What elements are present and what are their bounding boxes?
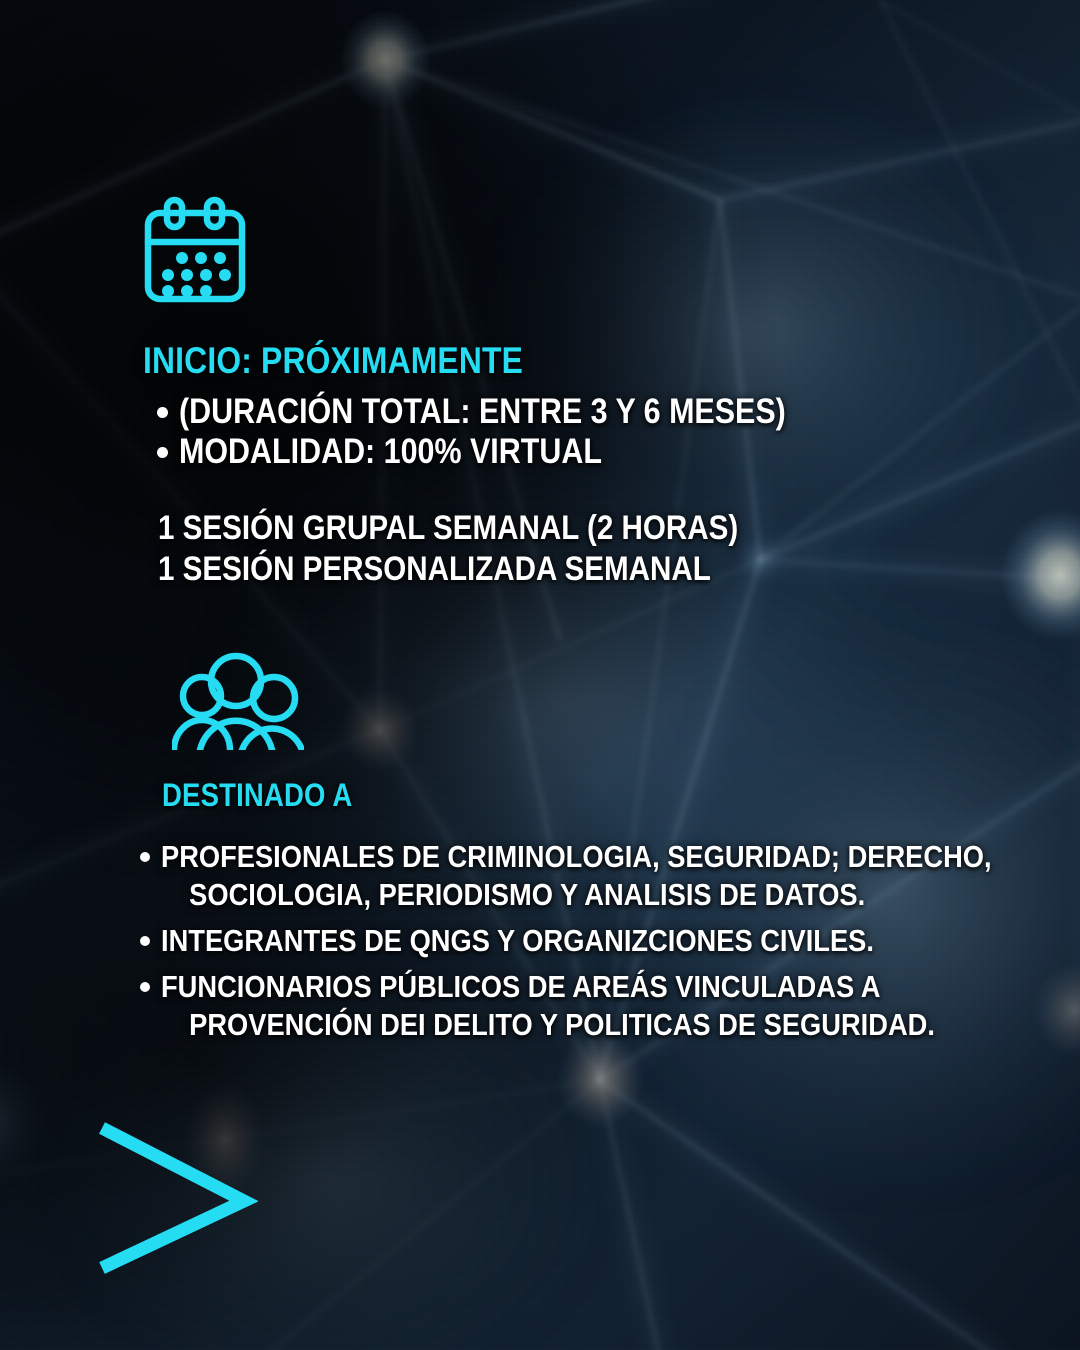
bullet-dot-icon (140, 852, 150, 862)
inicio-heading: INICIO: PRÓXIMAMENTE (143, 340, 523, 382)
list-item: (DURACIÓN TOTAL: ENTRE 3 Y 6 MESES) (157, 392, 877, 432)
list-item-label: MODALIDAD: 100% VIRTUAL (179, 432, 602, 472)
session-line: 1 SESIÓN PERSONALIZADA SEMANAL (158, 549, 738, 590)
destinado-bullet-list: PROFESIONALES DE CRIMINOLOGIA, SEGURIDAD… (140, 838, 1020, 1052)
bullet-dot-icon (140, 936, 150, 946)
inicio-bullet-list: (DURACIÓN TOTAL: ENTRE 3 Y 6 MESES) MODA… (157, 392, 877, 472)
list-item-label: PROFESIONALES DE CRIMINOLOGIA, SEGURIDAD… (161, 838, 992, 914)
bullet-dot-icon (157, 407, 168, 418)
bullet-dot-icon (140, 982, 150, 992)
destinado-heading: DESTINADO A (162, 777, 352, 814)
calendar-icon (143, 196, 247, 304)
list-item-line-1: PROFESIONALES DE CRIMINOLOGIA, SEGURIDAD… (161, 839, 992, 874)
bullet-dot-icon (157, 447, 168, 458)
list-item-label: (DURACIÓN TOTAL: ENTRE 3 Y 6 MESES) (179, 392, 786, 432)
list-item: INTEGRANTES DE QNGS Y ORGANIZCIONES CIVI… (140, 922, 1020, 960)
chevron-right-icon (88, 1118, 258, 1278)
people-group-icon (172, 652, 304, 750)
list-item-label: INTEGRANTES DE QNGS Y ORGANIZCIONES CIVI… (161, 922, 874, 960)
poster-canvas: INICIO: PRÓXIMAMENTE (DURACIÓN TOTAL: EN… (0, 0, 1080, 1350)
sessions-block: 1 SESIÓN GRUPAL SEMANAL (2 HORAS) 1 SESI… (158, 508, 825, 590)
list-item: MODALIDAD: 100% VIRTUAL (157, 432, 877, 472)
list-item-label: FUNCIONARIOS PÚBLICOS DE AREÁS VINCULADA… (161, 968, 935, 1044)
list-item-line-1: FUNCIONARIOS PÚBLICOS DE AREÁS VINCULADA… (161, 969, 880, 1004)
list-item-line-2: SOCIOLOGIA, PERIODISMO Y ANALISIS DE DAT… (161, 876, 992, 914)
list-item-line-2: PROVENCIÓN DEI DELITO Y POLITICAS DE SEG… (161, 1006, 935, 1044)
list-item: PROFESIONALES DE CRIMINOLOGIA, SEGURIDAD… (140, 838, 1020, 914)
list-item: FUNCIONARIOS PÚBLICOS DE AREÁS VINCULADA… (140, 968, 1020, 1044)
session-line: 1 SESIÓN GRUPAL SEMANAL (2 HORAS) (158, 508, 738, 549)
list-item-line-1: INTEGRANTES DE QNGS Y ORGANIZCIONES CIVI… (161, 923, 874, 958)
